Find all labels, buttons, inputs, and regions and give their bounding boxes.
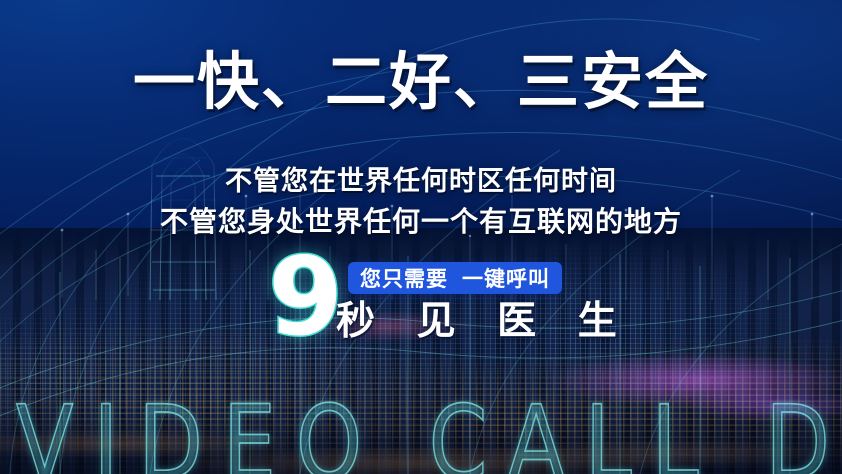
subtitle-line-1: 不管您在世界任何时区任何时间 xyxy=(0,166,842,198)
callout-block: 9 您只需要 一键呼叫 秒 见 医 生 xyxy=(268,250,608,355)
subtitle-line-2: 不管您身处世界任何一个有互联网的地方 xyxy=(0,206,842,238)
badge-text-primary: 您只需要 xyxy=(360,263,448,293)
see-doctor-line: 秒 见 医 生 xyxy=(336,300,631,344)
badge-text-secondary: 一键呼叫 xyxy=(462,263,550,293)
page-title: 一快、二好、三安全 xyxy=(0,48,842,116)
one-tap-call-badge[interactable]: 您只需要 一键呼叫 xyxy=(348,262,562,294)
poster-canvas: VIDEO CALL DOCTOR 一快、二好、三安全 不管您在世界任何时区任何… xyxy=(0,0,842,474)
badge-text-group: 您只需要 一键呼叫 xyxy=(360,263,550,293)
seconds-number: 9 xyxy=(268,244,343,352)
